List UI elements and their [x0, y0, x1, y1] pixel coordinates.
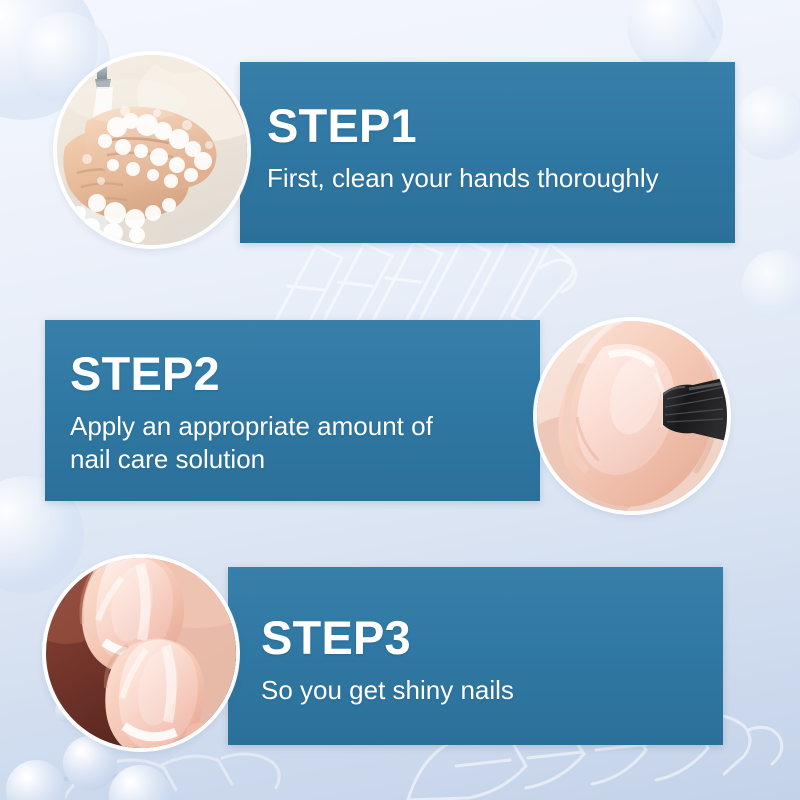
- step-2-text-block: STEP2 Apply an appropriate amount of nai…: [70, 350, 540, 477]
- line-art-hand-bottom-left: [60, 742, 290, 800]
- step-1-banner: STEP1 First, clean your hands thoroughly: [240, 62, 735, 243]
- washing-hands-photo: [57, 55, 247, 245]
- molecule-node-two: [63, 736, 117, 790]
- step-1-text-block: STEP1 First, clean your hands thoroughly: [267, 102, 735, 195]
- molecule-node-three: [109, 765, 171, 800]
- step-3-text-block: STEP3 So you get shiny nails: [261, 614, 723, 707]
- instruction-poster: STEP1 First, clean your hands thoroughly: [0, 0, 800, 800]
- bubble-right-upper: [735, 86, 800, 160]
- step-3-description: So you get shiny nails: [261, 674, 723, 707]
- molecule-node-one: [6, 760, 66, 800]
- bubble-right-middle: [742, 250, 800, 320]
- step-2-banner: STEP2 Apply an appropriate amount of nai…: [45, 320, 540, 501]
- applying-nail-solution-photo: [537, 321, 727, 511]
- step-1-title: STEP1: [267, 102, 735, 149]
- step-2-description-line-2: nail care solution: [70, 443, 540, 476]
- molecule-bond-right: [95, 766, 147, 791]
- step-3-title: STEP3: [261, 614, 723, 661]
- molecule-bond-left: [39, 769, 88, 791]
- step-1-description: First, clean your hands thoroughly: [267, 162, 735, 195]
- molecule-stem-top-right: [684, 0, 717, 40]
- step-2-title: STEP2: [70, 350, 540, 397]
- step-3-banner: STEP3 So you get shiny nails: [228, 567, 723, 745]
- step-2-description-line-1: Apply an appropriate amount of: [70, 410, 540, 443]
- shiny-nails-photo: [46, 558, 236, 748]
